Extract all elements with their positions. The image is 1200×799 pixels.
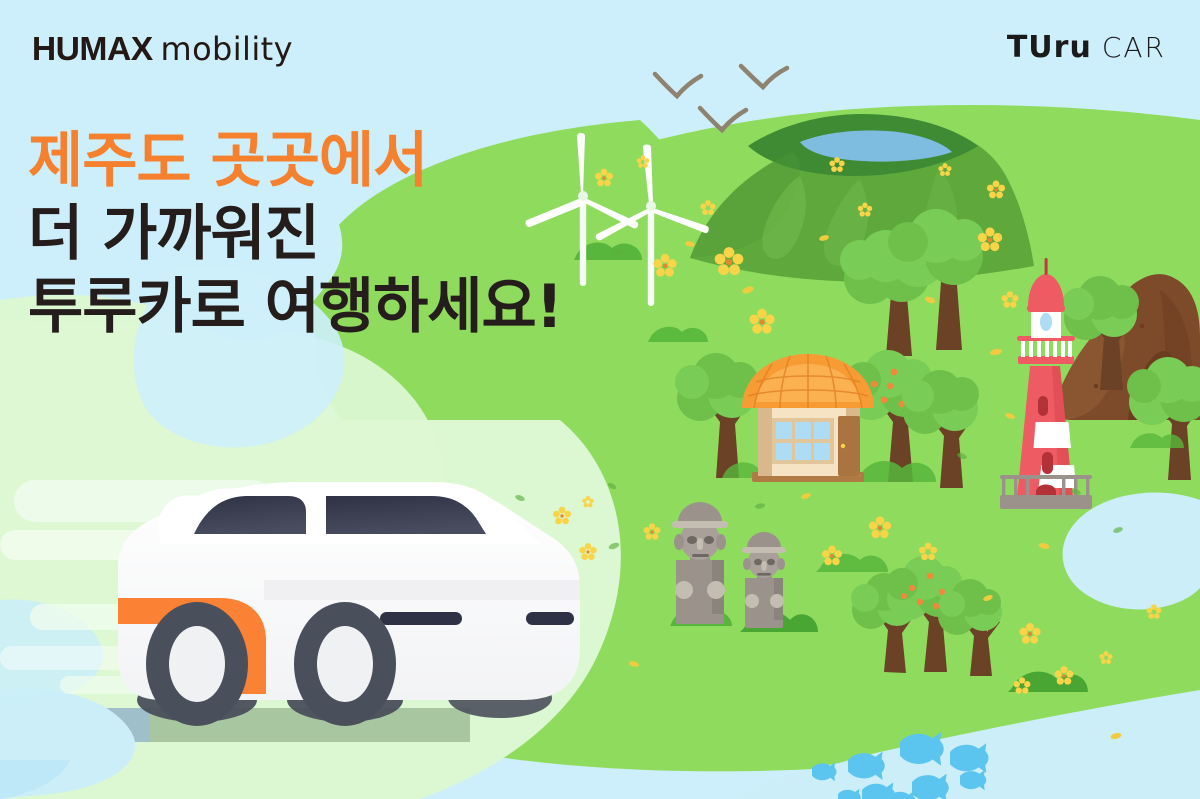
statue-mouth	[692, 554, 709, 557]
lighthouse-finial	[1045, 258, 1048, 275]
cliff-speck-2	[1140, 324, 1144, 328]
headline-line-3: 투루카로 여행하세요!	[28, 271, 562, 344]
headline-line-2: 더 가까워진	[28, 198, 562, 271]
statue-hat-brim	[672, 521, 728, 528]
statue-ear-right	[716, 534, 726, 550]
humax-mobility-logo[interactable]: HUMAX mobility	[33, 30, 293, 68]
lighthouse-base-platform	[1000, 495, 1092, 509]
lighthouse-window-2	[1042, 452, 1053, 474]
statue-ear-right-small	[777, 558, 785, 570]
statue-hat-brim-small	[742, 547, 786, 553]
statue-eye-left	[687, 536, 697, 544]
statue-mouth-small	[757, 573, 771, 576]
jeju-thatched-house	[742, 354, 874, 482]
car-trim-1	[380, 612, 462, 625]
statue-eye-right	[704, 536, 714, 544]
lighthouse-stripe-1	[1034, 422, 1072, 448]
statue-eye-right-small	[767, 559, 775, 565]
humax-wordmark: HUMAX	[32, 30, 153, 68]
car-wheel-rear	[294, 602, 396, 726]
statue-ear-left	[674, 534, 684, 550]
statue-hand-left-small	[745, 594, 759, 608]
statue-nose-small	[762, 561, 767, 571]
lighthouse-lamp-base	[1027, 305, 1065, 312]
statue-eye-left-small	[754, 559, 762, 565]
dol-hareubang-large	[672, 502, 728, 624]
dol-hareubang-small	[742, 532, 786, 628]
lighthouse-gallery-floor	[1018, 356, 1074, 364]
turu-car-logo[interactable]: TUru CAR	[1007, 30, 1166, 65]
promo-banner: HUMAX mobility TUru CAR 제주도 곳곳에서 더 가까워진 …	[0, 0, 1200, 799]
car-window-pillar	[306, 490, 326, 538]
car-wordmark: CAR	[1102, 31, 1166, 64]
cliff-speck-3	[1094, 384, 1098, 388]
scene-illustration	[0, 0, 1200, 799]
statue-hand-left	[675, 581, 693, 599]
turu-wordmark: TUru	[1007, 30, 1092, 65]
page-title: 제주도 곳곳에서 더 가까워진 투루카로 여행하세요!	[28, 125, 562, 345]
car-trim-2	[526, 612, 574, 625]
statue-hand-right	[707, 581, 725, 599]
statue-ear-left-small	[743, 558, 751, 570]
lighthouse-window-1	[1038, 396, 1048, 416]
mobility-wordmark: mobility	[161, 30, 293, 68]
house-door-knob	[841, 444, 845, 448]
statue-nose	[697, 538, 703, 550]
car-body-shade	[264, 580, 580, 600]
lighthouse-lamp	[1040, 313, 1052, 331]
house-wall-left-shade	[758, 404, 772, 476]
headline-line-1: 제주도 곳곳에서	[28, 125, 562, 198]
car	[118, 482, 580, 726]
car-wheel-front	[146, 602, 248, 726]
statue-hand-right-small	[770, 594, 784, 608]
